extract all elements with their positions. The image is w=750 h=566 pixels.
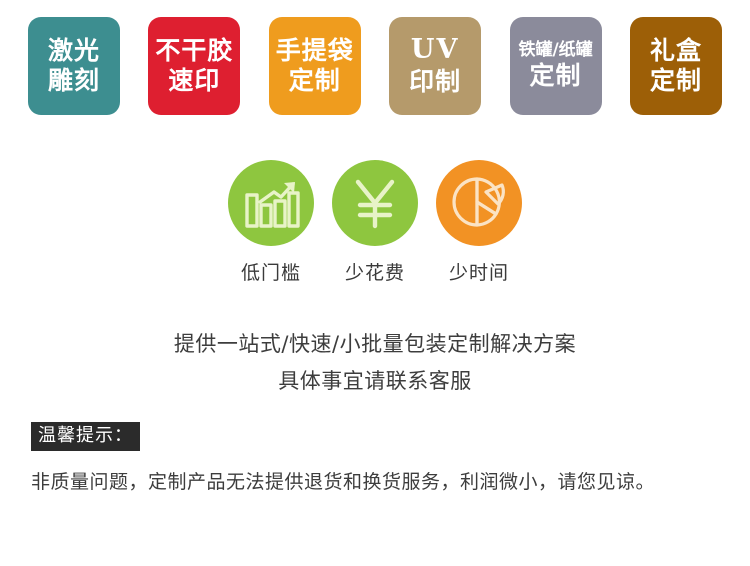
category-card-handbag-custom[interactable]: 手提袋 定制 <box>269 17 361 115</box>
category-label-line2: 雕刻 <box>48 66 100 97</box>
benefit-low-threshold: 低门槛 <box>225 160 317 285</box>
category-card-can-custom[interactable]: 铁罐/纸罐 定制 <box>510 17 602 115</box>
notice-badge: 温馨提示： <box>31 422 140 451</box>
notice-block: 温馨提示： 非质量问题，定制产品无法提供退货和换货服务，利润微小，请您见谅。 <box>31 422 721 494</box>
category-label-line1: 手提袋 <box>276 36 354 67</box>
tagline-block: 提供一站式/快速/小批量包装定制解决方案 具体事宜请联系客服 <box>0 326 750 400</box>
benefit-circle <box>332 160 418 246</box>
benefits-row: 低门槛 少花费 <box>225 160 525 285</box>
benefit-low-cost: 少花费 <box>329 160 421 285</box>
category-card-sticker-printing[interactable]: 不干胶 速印 <box>148 17 240 115</box>
category-card-uv-printing[interactable]: UV 印制 <box>389 17 481 115</box>
benefit-circle <box>228 160 314 246</box>
benefit-low-time: 少时间 <box>433 160 525 285</box>
category-label-line1: 不干胶 <box>155 36 233 67</box>
category-label-line1: UV <box>411 34 460 67</box>
category-label-line2: 定制 <box>289 66 341 97</box>
benefit-label: 低门槛 <box>241 258 301 285</box>
category-card-laser-engraving[interactable]: 激光 雕刻 <box>28 17 120 115</box>
category-card-row: 激光 雕刻 不干胶 速印 手提袋 定制 UV 印制 铁罐/纸罐 定制 礼盒 定制 <box>28 17 722 115</box>
category-label-line2: 印制 <box>409 67 461 98</box>
category-label-line1: 礼盒 <box>650 36 702 67</box>
category-label-line2: 速印 <box>168 66 220 97</box>
tagline-line-2: 具体事宜请联系客服 <box>0 363 750 400</box>
category-label-line1: 铁罐/纸罐 <box>518 40 592 61</box>
benefit-label: 少花费 <box>345 258 405 285</box>
category-label-line2: 定制 <box>530 61 582 92</box>
yuan-currency-icon <box>344 172 406 234</box>
benefit-label: 少时间 <box>449 258 509 285</box>
tagline-line-1: 提供一站式/快速/小批量包装定制解决方案 <box>0 326 750 363</box>
promo-banner: 激光 雕刻 不干胶 速印 手提袋 定制 UV 印制 铁罐/纸罐 定制 礼盒 定制 <box>0 0 750 566</box>
category-label-line1: 激光 <box>48 36 100 67</box>
bar-chart-growth-icon <box>240 172 302 234</box>
notice-text: 非质量问题，定制产品无法提供退货和换货服务，利润微小，请您见谅。 <box>31 467 721 494</box>
category-label-line2: 定制 <box>650 66 702 97</box>
pie-chart-icon <box>448 172 510 234</box>
benefit-circle <box>436 160 522 246</box>
category-card-gift-box-custom[interactable]: 礼盒 定制 <box>630 17 722 115</box>
